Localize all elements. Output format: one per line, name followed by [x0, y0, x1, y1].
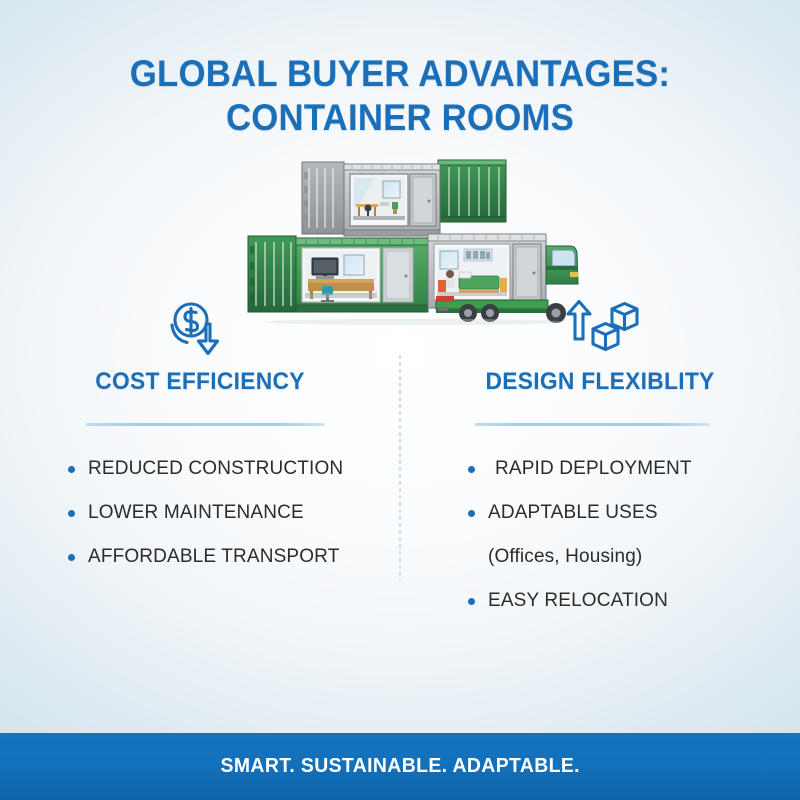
- bullet-dot-icon: [468, 466, 475, 473]
- heading-cost-efficiency: COST EFFICIENCY: [10, 368, 390, 396]
- infographic-poster: GLOBAL BUYER ADVANTAGES: CONTAINER ROOMS: [0, 0, 800, 800]
- list-item: ADAPTABLE USES: [468, 502, 800, 524]
- heading-rule-right: [475, 423, 710, 426]
- modular-cubes-up-arrow-icon: [400, 295, 800, 365]
- advantages-columns: COST EFFICIENCY REDUCED CONSTRUCTION LOW…: [0, 290, 800, 690]
- money-down-arrow-icon: [0, 295, 400, 365]
- bullet-dot-icon: [68, 554, 75, 561]
- container-upper-right: [438, 160, 506, 222]
- bullet-dot-icon: [468, 510, 475, 517]
- bullet-dot-icon: [68, 510, 75, 517]
- page-title: GLOBAL BUYER ADVANTAGES: CONTAINER ROOMS: [0, 52, 800, 140]
- title-line-2: CONTAINER ROOMS: [24, 96, 776, 140]
- bullet-list-cost-efficiency: REDUCED CONSTRUCTION LOWER MAINTENANCE A…: [0, 458, 468, 590]
- bullet-label: AFFORDABLE TRANSPORT: [88, 546, 339, 568]
- heading-rule-left: [86, 423, 325, 426]
- container-upper-gray-room: [302, 162, 440, 236]
- bullet-list-design-flexiblity: RAPID DEPLOYMENT ADAPTABLE USES (Offices…: [400, 458, 800, 634]
- bullet-dot-icon: [468, 598, 475, 605]
- bullet-label: EASY RELOCATION: [488, 590, 668, 612]
- column-cost-efficiency: COST EFFICIENCY REDUCED CONSTRUCTION LOW…: [0, 290, 400, 690]
- bullet-label: LOWER MAINTENANCE: [88, 502, 304, 524]
- list-item: EASY RELOCATION: [468, 590, 800, 612]
- bullet-dot-icon: [68, 466, 75, 473]
- bullet-label: ADAPTABLE USES: [488, 502, 658, 524]
- column-design-flexiblity: DESIGN FLEXIBLITY RAPID DEPLOYMENT ADAPT…: [400, 290, 800, 690]
- footer-tagline: SMART. SUSTAINABLE. ADAPTABLE.: [220, 755, 579, 778]
- heading-design-flexiblity: DESIGN FLEXIBLITY: [410, 368, 790, 396]
- list-item: RAPID DEPLOYMENT: [468, 458, 800, 480]
- list-item-continuation: (Offices, Housing): [468, 546, 800, 568]
- bullet-label: RAPID DEPLOYMENT: [488, 458, 692, 480]
- footer-banner: SMART. SUSTAINABLE. ADAPTABLE.: [0, 733, 800, 800]
- bullet-label: REDUCED CONSTRUCTION: [88, 458, 343, 480]
- title-line-1: GLOBAL BUYER ADVANTAGES:: [24, 52, 776, 96]
- bullet-label: (Offices, Housing): [488, 546, 642, 568]
